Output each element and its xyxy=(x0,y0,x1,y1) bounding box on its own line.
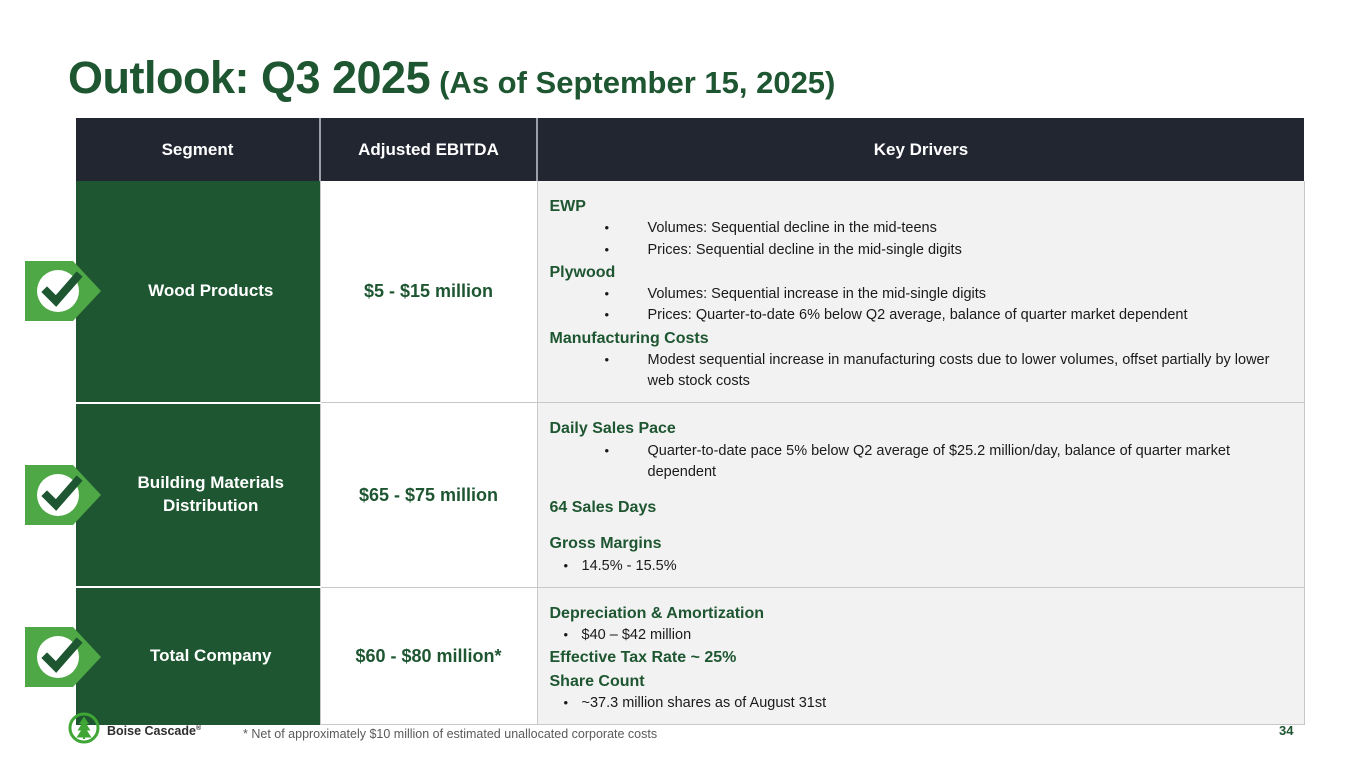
page-title: Outlook: Q3 2025(As of September 15, 202… xyxy=(68,52,835,104)
check-badge-icon xyxy=(25,253,101,329)
kd-bullet: Modest sequential increase in manufactur… xyxy=(550,350,1290,393)
segment-label: Total Company xyxy=(150,646,272,665)
table-row: Wood Products $5 - $15 million EWP Volum… xyxy=(76,181,1304,403)
segment-cell-total-company: Total Company xyxy=(76,587,320,724)
title-main: Outlook: Q3 2025 xyxy=(68,52,430,103)
ebitda-cell-wood-products: $5 - $15 million xyxy=(320,181,537,403)
outlook-table: Segment Adjusted EBITDA Key Drivers Wood xyxy=(76,118,1305,725)
table-row: Building Materials Distribution $65 - $7… xyxy=(76,403,1304,588)
footer-logo: Boise Cascade® xyxy=(68,712,201,749)
ebitda-cell-building-materials-distribution: $65 - $75 million xyxy=(320,403,537,588)
column-header-segment: Segment xyxy=(76,118,320,181)
table-header: Segment Adjusted EBITDA Key Drivers xyxy=(76,118,1304,181)
table-body: Wood Products $5 - $15 million EWP Volum… xyxy=(76,181,1304,725)
kd-bullet: Quarter-to-date pace 5% below Q2 average… xyxy=(550,441,1290,484)
kd-bullet-list: $40 – $42 million xyxy=(550,625,1290,646)
kd-heading: Daily Sales Pace xyxy=(550,417,1290,440)
kd-heading: Depreciation & Amortization xyxy=(550,602,1290,625)
kd-bullet-list: ~37.3 million shares as of August 31st xyxy=(550,693,1290,714)
key-drivers-cell-total-company: Depreciation & Amortization $40 – $42 mi… xyxy=(537,587,1304,724)
boise-cascade-tree-logo-icon xyxy=(68,712,100,749)
segment-label: Building Materials Distribution xyxy=(138,473,284,515)
check-badge-icon xyxy=(25,619,101,695)
footnote: * Net of approximately $10 million of es… xyxy=(243,727,657,741)
segment-cell-building-materials-distribution: Building Materials Distribution xyxy=(76,403,320,588)
segment-cell-wood-products: Wood Products xyxy=(76,181,320,403)
kd-heading: EWP xyxy=(550,195,1290,218)
kd-heading: Gross Margins xyxy=(550,532,1290,555)
kd-bullet: Prices: Quarter-to-date 6% below Q2 aver… xyxy=(550,305,1290,326)
key-drivers-cell-wood-products: EWP Volumes: Sequential decline in the m… xyxy=(537,181,1304,403)
registered-mark: ® xyxy=(196,724,201,731)
kd-heading: Effective Tax Rate ~ 25% xyxy=(550,646,1290,669)
logo-wordmark-text: Boise Cascade xyxy=(107,724,196,738)
kd-bullet-list: Volumes: Sequential decline in the mid-t… xyxy=(550,218,1290,261)
kd-bullet: $40 – $42 million xyxy=(550,625,1290,646)
kd-bullet-list: Quarter-to-date pace 5% below Q2 average… xyxy=(550,441,1290,484)
ebitda-cell-total-company: $60 - $80 million* xyxy=(320,587,537,724)
page-number: 34 xyxy=(1279,723,1293,738)
check-badge-icon xyxy=(25,457,101,533)
column-header-key-drivers: Key Drivers xyxy=(537,118,1304,181)
key-drivers-cell-building-materials-distribution: Daily Sales Pace Quarter-to-date pace 5%… xyxy=(537,403,1304,588)
kd-bullet-list: 14.5% - 15.5% xyxy=(550,556,1290,577)
segment-label: Wood Products xyxy=(148,281,273,300)
column-header-adjusted-ebitda: Adjusted EBITDA xyxy=(320,118,537,181)
kd-bullet-list: Modest sequential increase in manufactur… xyxy=(550,350,1290,393)
kd-bullet: Volumes: Sequential increase in the mid-… xyxy=(550,284,1290,305)
kd-bullet: Prices: Sequential decline in the mid-si… xyxy=(550,240,1290,261)
kd-bullet: 14.5% - 15.5% xyxy=(550,556,1290,577)
kd-heading: 64 Sales Days xyxy=(550,496,1290,519)
kd-heading: Share Count xyxy=(550,670,1290,693)
kd-heading: Manufacturing Costs xyxy=(550,327,1290,350)
table-row: Total Company $60 - $80 million* Depreci… xyxy=(76,587,1304,724)
logo-wordmark: Boise Cascade® xyxy=(107,724,201,738)
kd-bullet: Volumes: Sequential decline in the mid-t… xyxy=(550,218,1290,239)
kd-heading: Plywood xyxy=(550,261,1290,284)
kd-bullet: ~37.3 million shares as of August 31st xyxy=(550,693,1290,714)
kd-bullet-list: Volumes: Sequential increase in the mid-… xyxy=(550,284,1290,327)
title-subtitle: (As of September 15, 2025) xyxy=(439,65,835,100)
slide: Outlook: Q3 2025(As of September 15, 202… xyxy=(0,0,1365,768)
table-header-row: Segment Adjusted EBITDA Key Drivers xyxy=(76,118,1304,181)
